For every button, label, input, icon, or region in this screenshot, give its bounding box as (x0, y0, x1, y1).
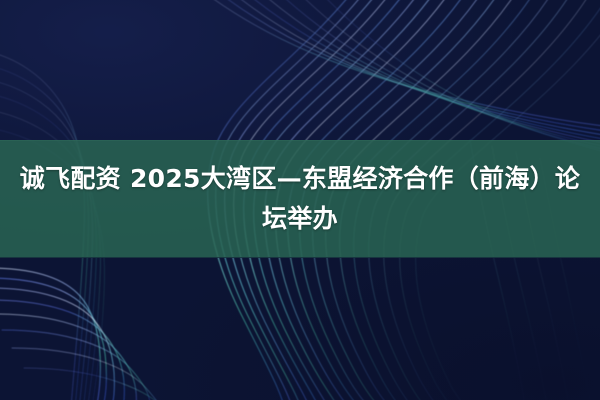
headline-line-2: 坛举办 (262, 204, 338, 233)
headline-line-1: 诚飞配资 2025大湾区—东盟经济合作（前海）论 (20, 164, 581, 193)
hero-image-canvas: 诚飞配资 2025大湾区—东盟经济合作（前海）论坛举办 (0, 0, 600, 400)
band-bottom-edge (0, 257, 600, 258)
page-title: 诚飞配资 2025大湾区—东盟经济合作（前海）论坛举办 (10, 159, 590, 239)
title-band: 诚飞配资 2025大湾区—东盟经济合作（前海）论坛举办 (0, 140, 600, 258)
